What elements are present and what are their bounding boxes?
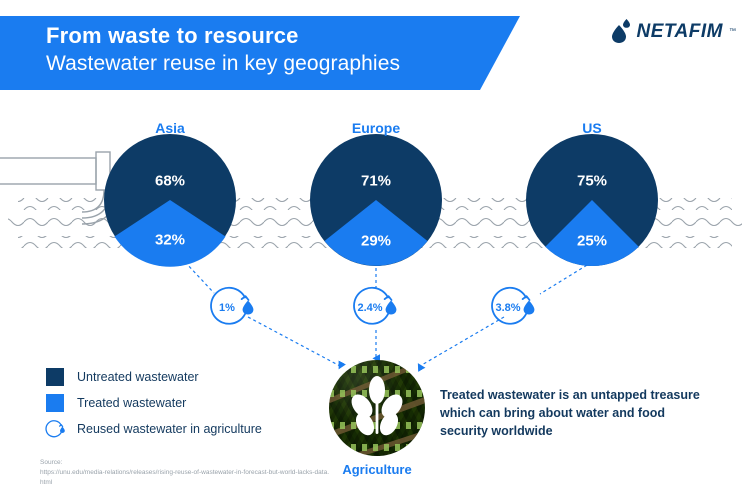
agriculture-photo bbox=[329, 360, 425, 456]
legend-swatch-reused bbox=[46, 420, 64, 438]
legend-label-reused: Reused wastewater in agriculture bbox=[77, 422, 262, 436]
pie-label-europe: Europe bbox=[352, 120, 400, 136]
pie-label-asia: Asia bbox=[155, 120, 185, 136]
discharge-pipe-icon bbox=[0, 152, 116, 224]
water-droplet-icon bbox=[386, 301, 397, 315]
page-subtitle: Wastewater reuse in key geographies bbox=[46, 52, 400, 76]
pie-value-europe-untreated: 71% bbox=[361, 173, 391, 190]
legend-swatch-treated bbox=[46, 394, 64, 412]
source-url[interactable]: https://unu.edu/media-relations/releases… bbox=[40, 468, 330, 488]
brand-name: NETAFIM bbox=[636, 22, 723, 41]
water-droplet-icon bbox=[243, 301, 254, 315]
reuse-value-asia: 1% bbox=[219, 302, 235, 314]
reuse-value-europe: 2.4% bbox=[357, 302, 382, 314]
agriculture-label: Agriculture bbox=[329, 462, 425, 477]
pie-label-us: US bbox=[582, 120, 601, 136]
pie-value-asia-untreated: 68% bbox=[155, 173, 185, 190]
infographic-canvas: From waste to resource Wastewater reuse … bbox=[0, 0, 750, 500]
header-banner: From waste to resource Wastewater reuse … bbox=[0, 16, 520, 90]
brand-trademark: ™ bbox=[729, 28, 736, 35]
legend-label-untreated: Untreated wastewater bbox=[77, 370, 199, 384]
pie-value-asia-treated: 32% bbox=[155, 232, 185, 249]
reuse-value-us: 3.8% bbox=[495, 302, 520, 314]
legend-item-treated: Treated wastewater bbox=[46, 390, 262, 416]
page-title: From waste to resource bbox=[46, 23, 299, 49]
source-citation: Source: https://unu.edu/media-relations/… bbox=[40, 458, 330, 488]
water-droplet-icon bbox=[60, 427, 65, 433]
pie-value-europe-treated: 29% bbox=[361, 233, 391, 250]
pie-value-us-treated: 25% bbox=[577, 233, 607, 250]
brand-logo: NETAFIM ™ bbox=[611, 18, 736, 44]
pie-value-us-untreated: 75% bbox=[577, 173, 607, 190]
legend-swatch-untreated bbox=[46, 368, 64, 386]
key-message: Treated wastewater is an untapped treasu… bbox=[440, 386, 710, 440]
source-label: Source: bbox=[40, 459, 62, 466]
legend-label-treated: Treated wastewater bbox=[77, 396, 186, 410]
legend: Untreated wastewater Treated wastewater … bbox=[46, 364, 262, 442]
plant-leaf-icon bbox=[329, 360, 425, 456]
water-droplet-icon bbox=[524, 301, 535, 315]
water-droplet-icon bbox=[611, 18, 631, 44]
legend-item-untreated: Untreated wastewater bbox=[46, 364, 262, 390]
legend-item-reused: Reused wastewater in agriculture bbox=[46, 416, 262, 442]
